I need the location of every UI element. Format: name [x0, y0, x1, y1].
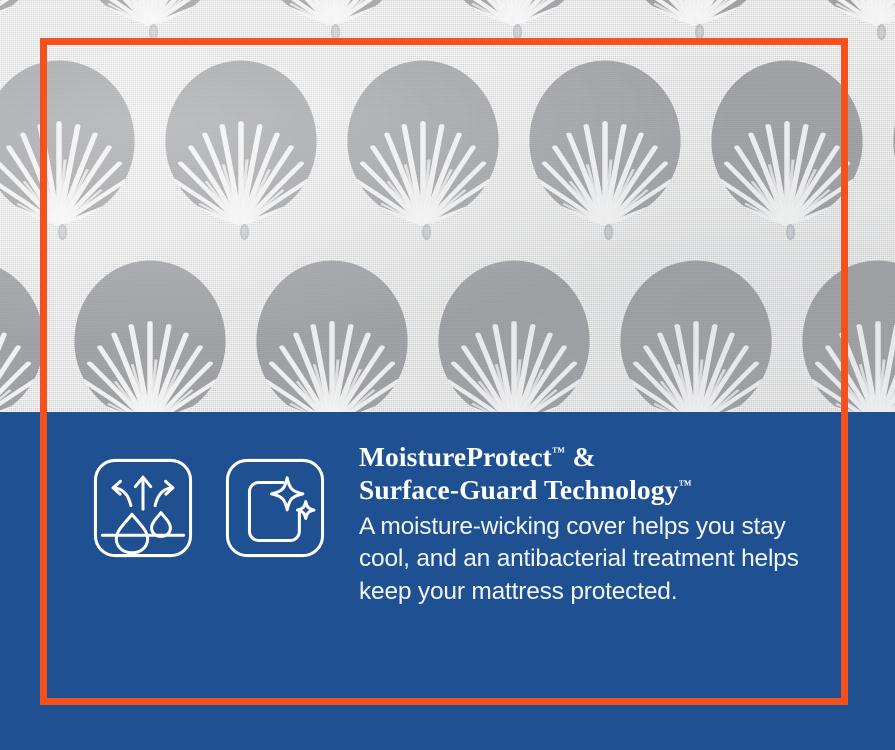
- info-panel-content: MoistureProtect™ & Surface-Guard Technol…: [0, 412, 895, 750]
- trademark-symbol-2: ™: [678, 477, 692, 492]
- feature-text-block: MoistureProtect™ & Surface-Guard Technol…: [359, 440, 829, 609]
- mattress-fabric-photo: [0, 0, 895, 412]
- feature-description: A moisture-wicking cover helps you stay …: [359, 511, 829, 609]
- feature-title-line-1-text: MoistureProtect: [359, 441, 552, 472]
- feature-callout-graphic: MoistureProtect™ & Surface-Guard Technol…: [0, 0, 895, 750]
- feature-title-line-2-text: Surface-Guard Technology: [359, 474, 678, 505]
- feature-title: MoistureProtect™ & Surface-Guard Technol…: [359, 440, 829, 507]
- feature-title-ampersand: &: [566, 441, 596, 472]
- moisture-wicking-icon: [85, 450, 201, 566]
- feature-title-line-1: MoistureProtect™ &: [359, 441, 596, 472]
- feature-title-line-2: Surface-Guard Technology™: [359, 474, 692, 505]
- trademark-symbol-1: ™: [552, 444, 566, 459]
- surface-guard-sparkle-icon: [217, 450, 333, 566]
- feature-icon-group: [85, 450, 333, 566]
- leaf-pattern-grid: [0, 0, 895, 412]
